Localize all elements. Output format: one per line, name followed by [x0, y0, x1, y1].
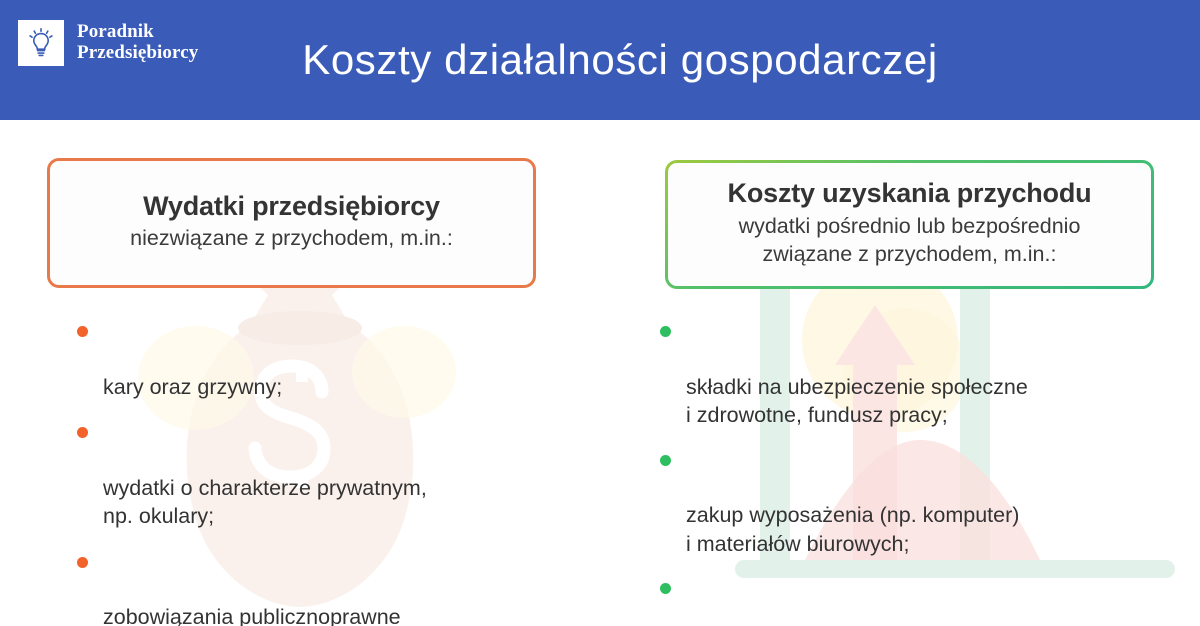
list-item: proporcjonalna część kosztów użytkowania…: [656, 573, 1200, 626]
bullet-dot-icon: [660, 583, 671, 594]
bullet-dot-icon: [77, 557, 88, 568]
list-item-text: zobowiązania publicznoprawne – podatki;: [103, 605, 401, 626]
list-item: wydatki o charakterze prywatnym, np. oku…: [73, 417, 573, 531]
card-title-right: Koszty uzyskania przychodu: [728, 178, 1092, 210]
list-item: zobowiązania publicznoprawne – podatki;: [73, 547, 573, 626]
content-columns: Wydatki przedsiębiorcy niezwiązane z prz…: [0, 120, 1200, 626]
card-subtitle-right-line1: wydatki pośrednio lub bezpośrednio: [739, 213, 1081, 241]
bullet-dot-icon: [660, 326, 671, 337]
card-koszty-uzyskania-przychodu: Koszty uzyskania przychodu wydatki pośre…: [665, 160, 1154, 289]
card-subtitle-left: niezwiązane z przychodem, m.in.:: [130, 225, 453, 253]
card-title-left: Wydatki przedsiębiorcy: [143, 191, 440, 223]
list-item-text: składki na ubezpieczenie społeczne i zdr…: [686, 375, 1028, 427]
list-item: zakup wyposażenia (np. komputer) i mater…: [656, 445, 1200, 559]
bullet-dot-icon: [77, 326, 88, 337]
card-subtitle-right-line2: związane z przychodem, m.in.:: [763, 241, 1057, 269]
bullet-dot-icon: [660, 455, 671, 466]
bullet-list-left: kary oraz grzywny; wydatki o charakterze…: [73, 316, 573, 626]
list-item: kary oraz grzywny;: [73, 316, 573, 401]
header-band: Poradnik Przedsiębiorcy Koszty działalno…: [0, 0, 1200, 120]
card-wydatki-przedsiebiorcy: Wydatki przedsiębiorcy niezwiązane z prz…: [47, 158, 536, 288]
list-item-text: kary oraz grzywny;: [103, 375, 282, 399]
list-item-text: zakup wyposażenia (np. komputer) i mater…: [686, 503, 1019, 555]
bullet-dot-icon: [77, 427, 88, 438]
list-item-text: wydatki o charakterze prywatnym, np. oku…: [103, 476, 427, 528]
list-item: składki na ubezpieczenie społeczne i zdr…: [656, 316, 1200, 430]
bullet-list-right: składki na ubezpieczenie społeczne i zdr…: [656, 316, 1200, 626]
infographic-root: Poradnik Przedsiębiorcy Koszty działalno…: [0, 0, 1200, 626]
page-title: Koszty działalności gospodarczej: [0, 0, 1200, 120]
